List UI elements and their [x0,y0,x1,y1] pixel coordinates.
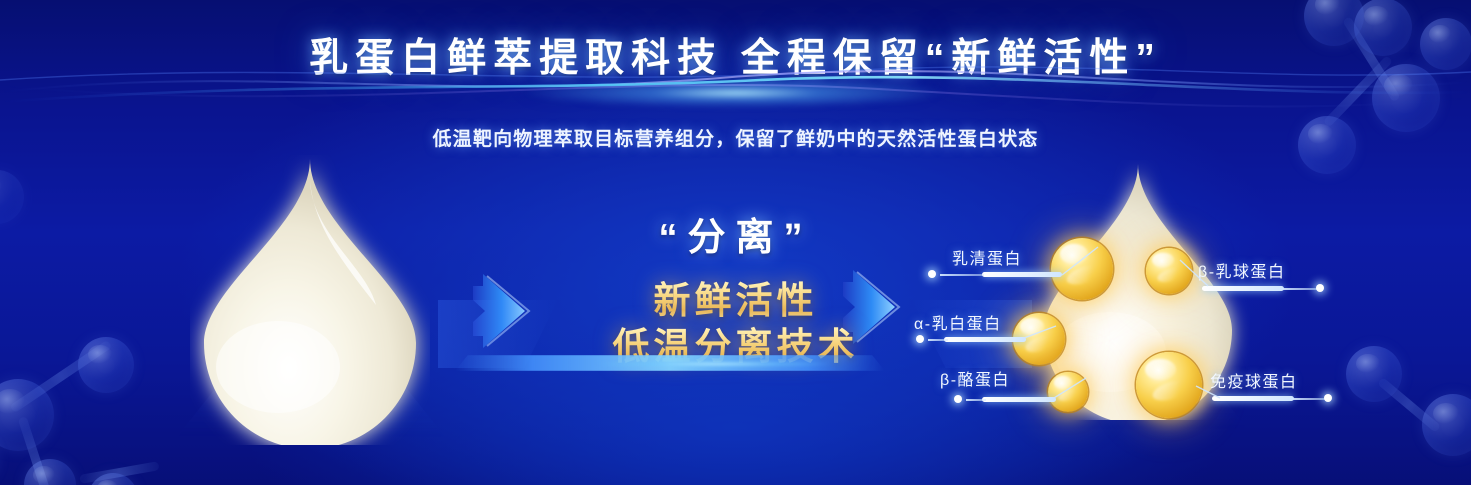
molecule-atom [0,379,54,451]
callout-endpoint-dot [954,395,962,403]
molecule-bond [18,416,56,485]
callout-bar [982,272,1062,277]
callout-label: β-酪蛋白 [940,366,1010,390]
gold-sphere-icon-beta-lactoglobulin [1146,248,1192,294]
callout-beta-lactoglobulin[interactable]: β-乳球蛋白 [1196,258,1376,298]
callout-endpoint-dot [1316,284,1324,292]
callout-endpoint-dot [916,335,924,343]
center-quoted-text: “分离” [0,206,1471,261]
center-base-glow [600,361,830,367]
molecule-atom [1422,394,1471,456]
callout-bar [1202,286,1284,291]
callout-leader-line [1052,370,1102,406]
callout-tail [966,399,986,401]
callout-whey-protein[interactable]: 乳清蛋白 [930,245,1090,285]
callout-label: 免疫球蛋白 [1210,368,1298,392]
banner-root: 乳蛋白鲜萃提取科技 全程保留“新鲜活性” [0,0,1471,485]
callout-label: β-乳球蛋白 [1198,258,1286,282]
callout-tail [1282,288,1320,290]
callout-alpha-lactalbumin[interactable]: α-乳白蛋白 [910,310,1080,350]
callout-bar [944,337,1026,342]
callout-immunoglobulin[interactable]: 免疫球蛋白 [1210,368,1390,412]
callout-endpoint-dot [928,270,936,278]
callout-label: α-乳白蛋白 [914,310,1002,334]
molecule-bond [79,461,159,484]
callout-endpoint-dot [1324,394,1332,402]
callout-tail [940,274,984,276]
molecule-atom [88,473,138,485]
molecule-atom [24,459,76,485]
callout-label: 乳清蛋白 [952,245,1022,269]
page-subtitle: 低温靶向物理萃取目标营养组分，保留了鲜奶中的天然活性蛋白状态 [0,124,1471,151]
callout-tail [928,339,948,341]
callout-bar [982,397,1056,402]
page-title: 乳蛋白鲜萃提取科技 全程保留“新鲜活性” [0,27,1471,83]
callout-beta-casein[interactable]: β-酪蛋白 [940,366,1100,410]
molecule-decor-bottom-left [0,355,220,485]
callout-tail [1292,398,1328,400]
callout-leader-line [1022,320,1068,348]
callout-bar [1212,396,1294,401]
gold-sphere-icon-immunoglobulin [1136,352,1202,418]
